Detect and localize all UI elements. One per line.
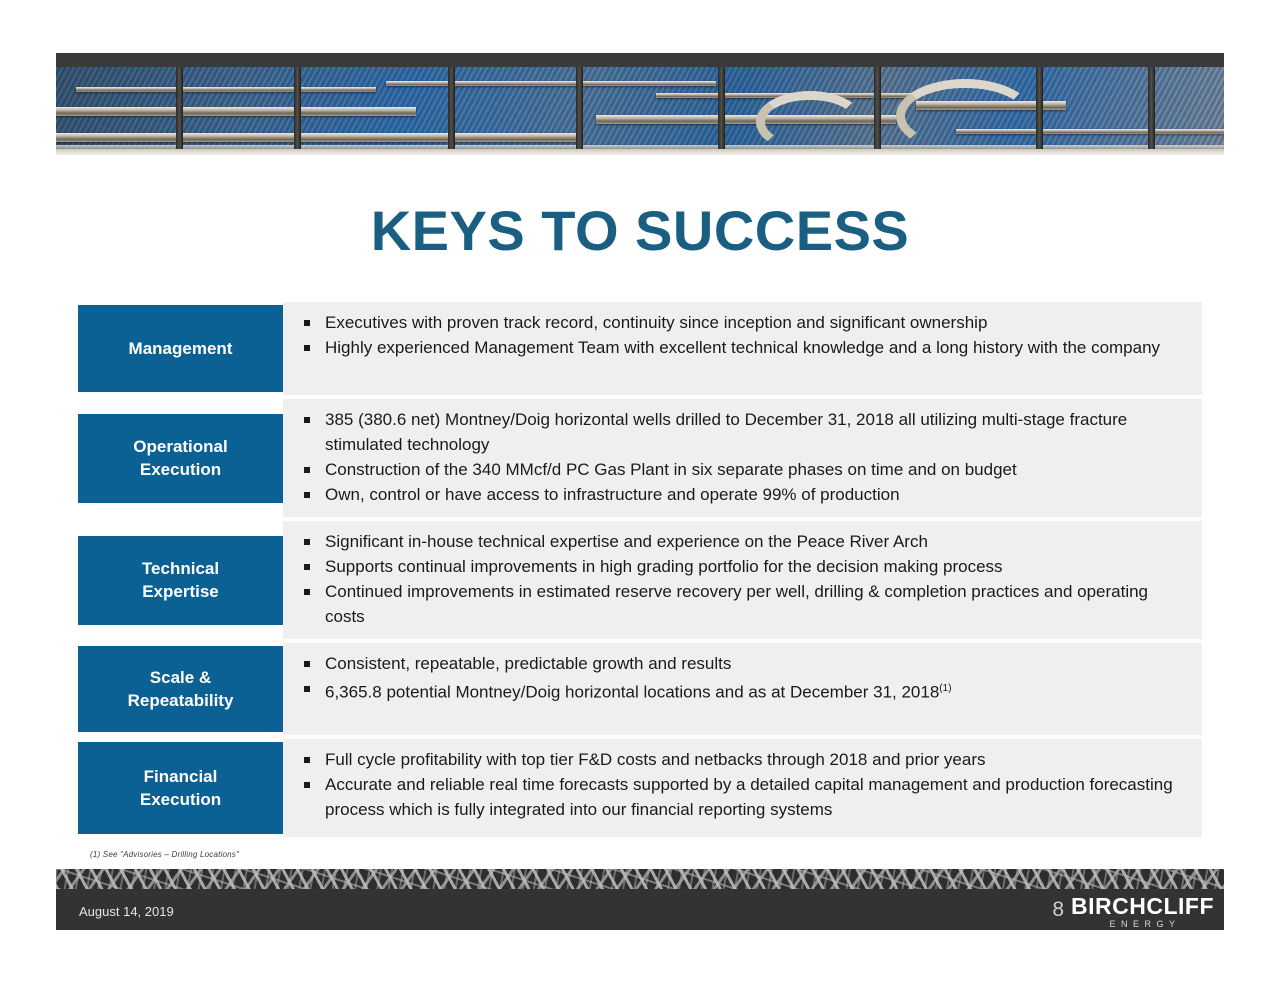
footnote-marker: (1) (939, 683, 951, 694)
row-label-cell: Technical Expertise (78, 521, 283, 639)
bullet-item: Construction of the 340 MMcf/d PC Gas Pl… (301, 457, 1188, 482)
birchcliff-energy-logo: BIRCHCLIFF ENERGY (1071, 894, 1214, 930)
bullet-item: Continued improvements in estimated rese… (301, 579, 1188, 629)
header-banner (56, 53, 1224, 155)
row-label-line1: Scale & (150, 668, 211, 687)
table-row: Management Executives with proven track … (78, 302, 1202, 395)
slide-footer: August 14, 2019 8 BIRCHCLIFF ENERGY (56, 869, 1224, 930)
logo-wordmark: BIRCHCLIFF (1071, 894, 1214, 918)
row-label-cell: Management (78, 302, 283, 395)
row-label-line2: Execution (140, 460, 221, 479)
row-label-line1: Technical (142, 559, 219, 578)
row-label-operational-execution: Operational Execution (78, 414, 283, 503)
row-label-management: Management (78, 305, 283, 392)
row-label-line2: Execution (140, 790, 221, 809)
row-label-line2: Repeatability (128, 691, 234, 710)
bullet-item: 385 (380.6 net) Montney/Doig horizontal … (301, 407, 1188, 457)
row-label-technical-expertise: Technical Expertise (78, 536, 283, 625)
bullet-item: Significant in-house technical expertise… (301, 529, 1188, 554)
bullet-item: Own, control or have access to infrastru… (301, 482, 1188, 507)
bullet-item: Supports continual improvements in high … (301, 554, 1188, 579)
table-row: Financial Execution Full cycle profitabi… (78, 739, 1202, 837)
keys-to-success-table: Management Executives with proven track … (78, 302, 1202, 841)
row-label-financial-execution: Financial Execution (78, 742, 283, 834)
row-content-cell: Significant in-house technical expertise… (283, 521, 1202, 639)
row-content-cell: Full cycle profitability with top tier F… (283, 739, 1202, 837)
bullet-item-with-footnote: 6,365.8 potential Montney/Doig horizonta… (301, 676, 1188, 705)
industrial-piping-photo (56, 67, 1224, 155)
row-label-line1: Financial (144, 767, 218, 786)
bullet-item: Consistent, repeatable, predictable grow… (301, 651, 1188, 676)
bullet-text: 6,365.8 potential Montney/Doig horizonta… (325, 683, 939, 702)
row-label-scale-repeatability: Scale & Repeatability (78, 646, 283, 732)
row-label-cell: Scale & Repeatability (78, 643, 283, 735)
row-label-cell: Financial Execution (78, 739, 283, 837)
bullet-item: Highly experienced Management Team with … (301, 335, 1188, 360)
logo-tagline: ENERGY (1071, 918, 1214, 930)
table-row: Technical Expertise Significant in-house… (78, 521, 1202, 639)
bullet-item: Executives with proven track record, con… (301, 310, 1188, 335)
row-label-cell: Operational Execution (78, 399, 283, 517)
bullet-item: Full cycle profitability with top tier F… (301, 747, 1188, 772)
footer-date: August 14, 2019 (79, 904, 174, 919)
row-content-cell: Executives with proven track record, con… (283, 302, 1202, 395)
bullet-item: Accurate and reliable real time forecast… (301, 772, 1188, 822)
page-number: 8 (1052, 898, 1064, 922)
row-label-line1: Operational (133, 437, 227, 456)
banner-bottom-edge (56, 149, 1224, 155)
table-row: Operational Execution 385 (380.6 net) Mo… (78, 399, 1202, 517)
row-content-cell: 385 (380.6 net) Montney/Doig horizontal … (283, 399, 1202, 517)
footnote: (1) See "Advisories – Drilling Locations… (90, 850, 239, 859)
banner-top-bar (56, 53, 1224, 67)
row-label-line2: Expertise (142, 582, 219, 601)
row-content-cell: Consistent, repeatable, predictable grow… (283, 643, 1202, 735)
footer-texture-strip (56, 869, 1224, 889)
page-title: KEYS TO SUCCESS (0, 198, 1280, 263)
table-row: Scale & Repeatability Consistent, repeat… (78, 643, 1202, 735)
